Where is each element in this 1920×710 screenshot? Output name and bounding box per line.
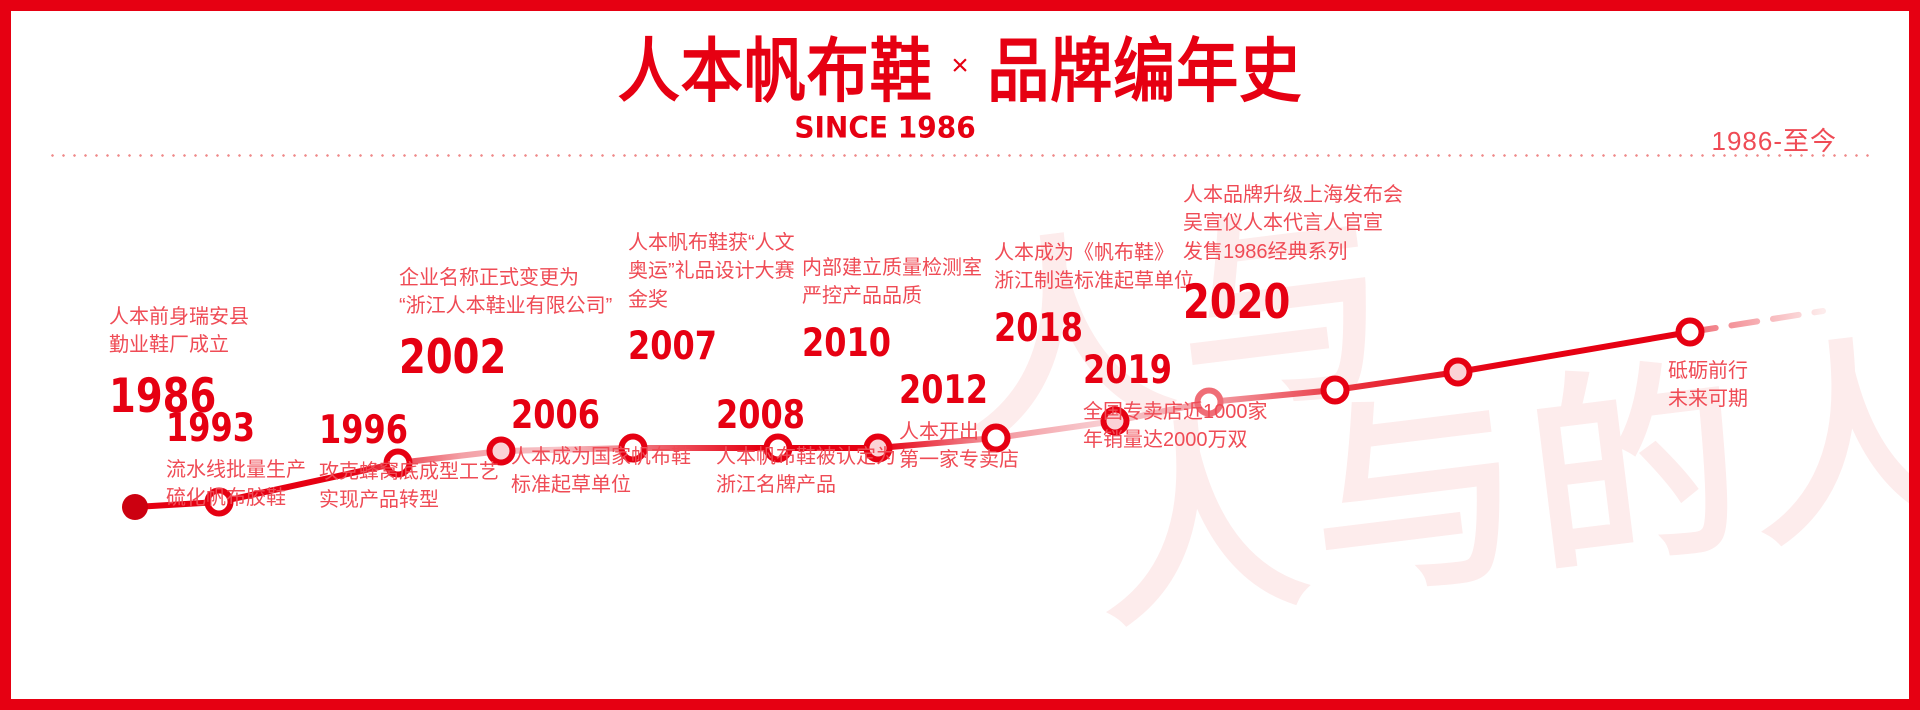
timeline-item-1996[interactable]: 1996 攻克蜂窝底成型工艺 实现产品转型 <box>319 411 499 515</box>
timeline-year-2010: 2010 <box>802 324 971 363</box>
timeline-year-2020: 2020 <box>1183 279 1390 326</box>
timeline-desc-2006: 人本成为国家帆布鞋 标准起草单位 <box>511 443 691 500</box>
timeline-desc-1986: 人本前身瑞安县 勤业鞋厂成立 <box>109 303 249 360</box>
timeline-desc-1993: 流水线批量生产 硫化帆布胶鞋 <box>166 456 306 513</box>
timeline-node-2019[interactable] <box>1324 379 1347 402</box>
timeline-future-note: 砥砺前行 未来可期 <box>1668 357 1748 414</box>
timeline-future-tail <box>1690 311 1823 332</box>
timeline-desc-2007: 人本帆布鞋获“人文 奥运”礼品设计大赛 金奖 <box>628 229 795 314</box>
timeline-year-2002: 2002 <box>399 334 600 381</box>
timeline-item-2007[interactable]: 人本帆布鞋获“人文 奥运”礼品设计大赛 金奖 2007 <box>628 229 795 361</box>
timeline-item-2019[interactable]: 2019 全国专卖店近1000家 年销量达2000万双 <box>1083 351 1268 455</box>
timeline-year-2018: 2018 <box>994 309 1182 348</box>
timeline-node-future[interactable] <box>1679 321 1702 344</box>
infographic-canvas: 人与 人与的人 人本帆布鞋 × 品牌编年史 SINCE 1986 1986-至今 <box>11 11 1909 699</box>
timeline-item-2010[interactable]: 内部建立质量检测室 严控产品品质 2010 <box>802 254 982 358</box>
timeline-desc-2020: 人本品牌升级上海发布会 吴宣仪人本代言人官宣 发售1986经典系列 <box>1183 181 1403 266</box>
timeline-desc-2019: 全国专卖店近1000家 年销量达2000万双 <box>1083 398 1268 455</box>
timeline-item-1993[interactable]: 1993 流水线批量生产 硫化帆布胶鞋 <box>166 409 306 513</box>
timeline-year-2012: 2012 <box>899 371 1012 410</box>
timeline-item-2006[interactable]: 2006 人本成为国家帆布鞋 标准起草单位 <box>511 396 691 500</box>
timeline-year-2008: 2008 <box>716 396 885 435</box>
timeline-item-2018[interactable]: 人本成为《帆布鞋》 浙江制造标准起草单位 2018 <box>994 239 1194 343</box>
timeline-year-2019: 2019 <box>1083 351 1256 390</box>
infographic-root: 人与 人与的人 人本帆布鞋 × 品牌编年史 SINCE 1986 1986-至今 <box>0 0 1920 710</box>
timeline-desc-2008: 人本帆布鞋被认定为 浙江名牌产品 <box>716 443 896 500</box>
timeline-year-1996: 1996 <box>319 411 488 450</box>
timeline-desc-2012: 人本开出 第一家专卖店 <box>899 418 1019 475</box>
timeline-desc-2018: 人本成为《帆布鞋》 浙江制造标准起草单位 <box>994 239 1194 296</box>
timeline-item-2008[interactable]: 2008 人本帆布鞋被认定为 浙江名牌产品 <box>716 396 896 500</box>
timeline-desc-1996: 攻克蜂窝底成型工艺 实现产品转型 <box>319 458 499 515</box>
timeline-node-2020[interactable] <box>1447 361 1470 384</box>
timeline-item-2012[interactable]: 2012 人本开出 第一家专卖店 <box>899 371 1019 475</box>
timeline-item-2002[interactable]: 企业名称正式变更为 “浙江人本鞋业有限公司” 2002 <box>399 264 612 375</box>
timeline-year-2007: 2007 <box>628 327 785 366</box>
timeline-node-1986[interactable] <box>122 494 148 520</box>
timeline-item-1986[interactable]: 人本前身瑞安县 勤业鞋厂成立 1986 <box>109 303 249 414</box>
timeline-year-1993: 1993 <box>166 409 298 448</box>
timeline-item-2020[interactable]: 人本品牌升级上海发布会 吴宣仪人本代言人官宣 发售1986经典系列 2020 <box>1183 181 1403 320</box>
timeline-desc-2002: 企业名称正式变更为 “浙江人本鞋业有限公司” <box>399 264 612 321</box>
timeline-year-2006: 2006 <box>511 396 680 435</box>
timeline-desc-2010: 内部建立质量检测室 严控产品品质 <box>802 254 982 311</box>
